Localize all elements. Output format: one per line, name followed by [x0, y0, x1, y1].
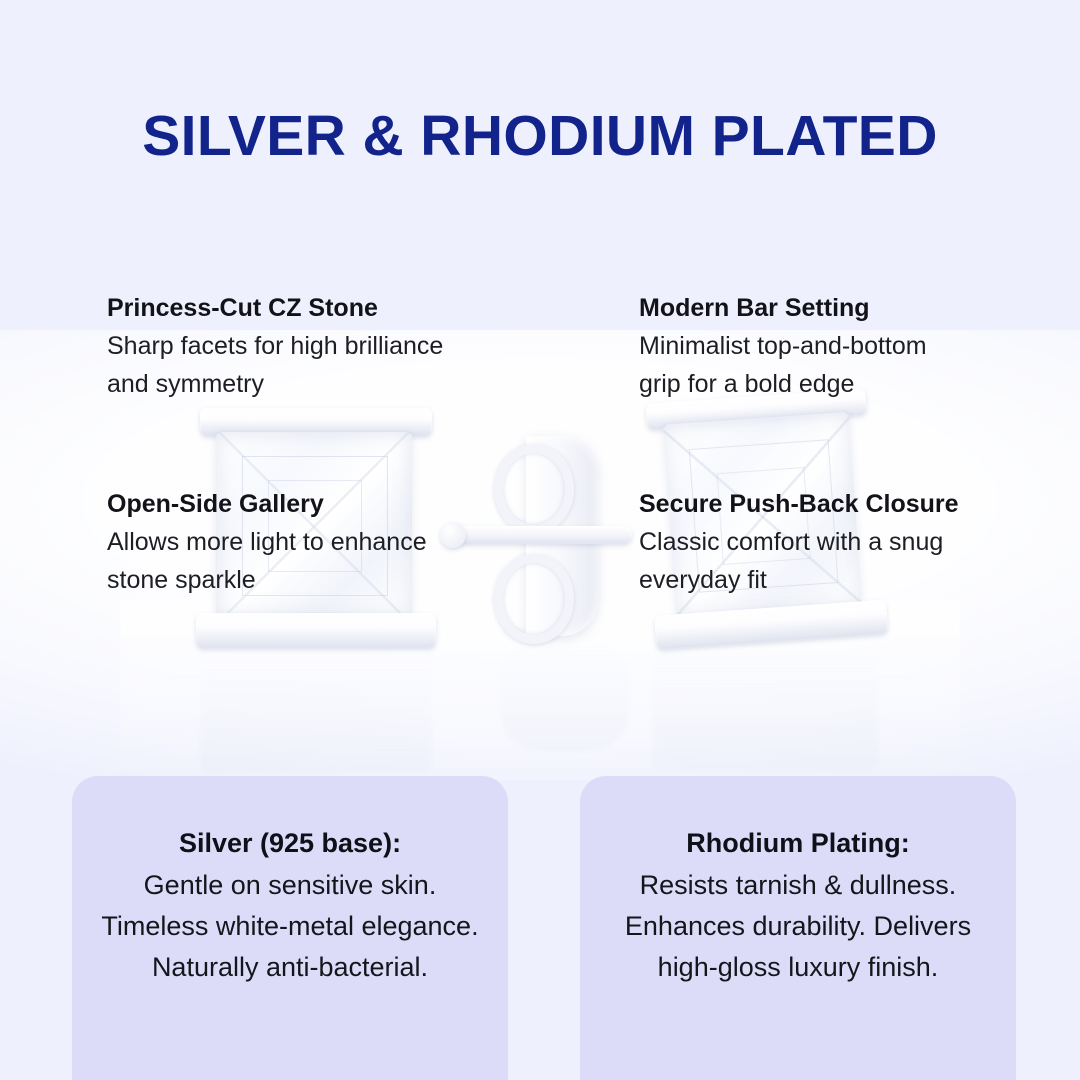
feature-heading: Princess-Cut CZ Stone	[107, 292, 447, 325]
card-body: Resists tarnish & dullness. Enhances dur…	[598, 861, 998, 988]
left-earring-reflection	[200, 652, 432, 772]
feature-princess-cut-cz-stone: Princess-Cut CZ Stone Sharp facets for h…	[107, 292, 447, 403]
butterfly-push-back-clasp	[486, 436, 636, 636]
promo-graphic: SILVER & RHODIUM PLATED Princess-Cut CZ …	[0, 0, 1080, 1080]
bar-setting-bottom	[654, 600, 888, 650]
feature-secure-push-back-closure: Secure Push-Back Closure Classic comfort…	[639, 488, 969, 599]
feature-body: Minimalist top-and-bottom grip for a bol…	[639, 327, 969, 403]
feature-modern-bar-setting: Modern Bar Setting Minimalist top-and-bo…	[639, 292, 969, 403]
card-heading: Silver (925 base):	[90, 776, 490, 861]
info-card-rhodium: Rhodium Plating: Resists tarnish & dulln…	[580, 776, 1016, 1080]
feature-body: Allows more light to enhance stone spark…	[107, 523, 457, 599]
bar-setting-top	[200, 408, 432, 436]
clasp-shell	[526, 436, 598, 636]
feature-body: Classic comfort with a snug everyday fit	[639, 523, 969, 599]
earring-post	[446, 526, 632, 544]
clasp-reflection	[500, 640, 630, 750]
feature-heading: Modern Bar Setting	[639, 292, 969, 325]
page-title: SILVER & RHODIUM PLATED	[0, 105, 1080, 168]
product-photo-reflection-floor	[120, 600, 960, 780]
clasp-loop-lower	[494, 554, 574, 644]
card-heading: Rhodium Plating:	[598, 776, 998, 861]
feature-heading: Secure Push-Back Closure	[639, 488, 969, 521]
bar-setting-bottom	[196, 613, 436, 648]
feature-open-side-gallery: Open-Side Gallery Allows more light to e…	[107, 488, 457, 599]
right-earring-reflection	[652, 650, 878, 770]
card-body: Gentle on sensitive skin. Timeless white…	[90, 861, 490, 988]
clasp-loop-upper	[494, 444, 574, 534]
feature-heading: Open-Side Gallery	[107, 488, 457, 521]
feature-body: Sharp facets for high brilliance and sym…	[107, 327, 447, 403]
info-card-silver: Silver (925 base): Gentle on sensitive s…	[72, 776, 508, 1080]
